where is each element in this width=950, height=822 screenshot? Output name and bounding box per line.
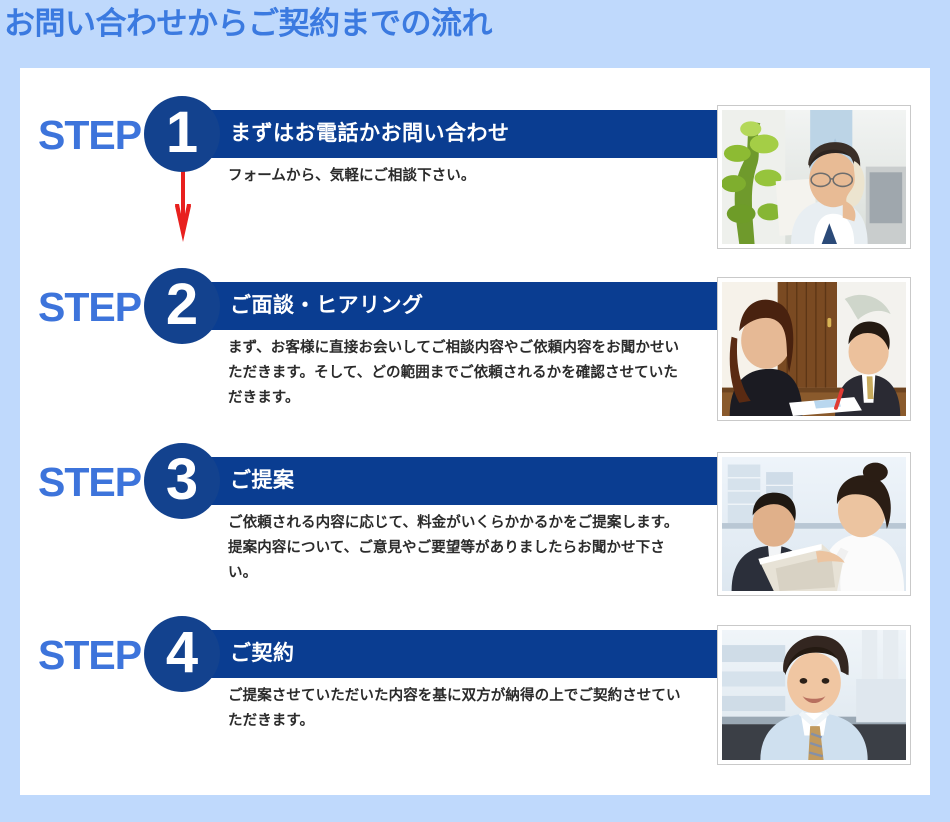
step-body-1: フォームから、気軽にご相談下さい。 <box>228 164 688 189</box>
step-body-3: ご依頼される内容に応じて、料金がいくらかかるかをご提案します。提案内容について、… <box>228 511 688 586</box>
step-label-2: STEP <box>38 284 141 330</box>
step-block-2: STEP 2 ご面談・ヒアリング まず、お客様に直接お会いしてご相談内容やご依頼… <box>20 268 930 428</box>
flow-panel: STEP 1 まずはお電話かお問い合わせ フォームから、気軽にご相談下さい。 <box>20 68 930 795</box>
step-label-1: STEP <box>38 112 141 158</box>
page-title: お問い合わせからご契約までの流れ <box>0 0 950 48</box>
step-title-2: ご面談・ヒアリング <box>230 282 424 330</box>
step-number-badge-2: 2 <box>144 268 220 344</box>
step-label-4: STEP <box>38 632 141 678</box>
photo-contract-businessman <box>718 626 910 764</box>
step-number-badge-3: 3 <box>144 443 220 519</box>
photo-proposal-review <box>718 453 910 595</box>
step-body-4: ご提案させていただいた内容を基に双方が納得の上でご契約させていただきます。 <box>228 684 688 734</box>
step-title-4: ご契約 <box>230 630 295 678</box>
step-block-1: STEP 1 まずはお電話かお問い合わせ フォームから、気軽にご相談下さい。 <box>20 96 930 256</box>
step-block-3: STEP 3 ご提案 ご依頼される内容に応じて、料金がいくらかかるかをご提案しま… <box>20 443 930 603</box>
photo-meeting-interview <box>718 278 910 420</box>
photo-phone-call <box>718 106 910 248</box>
step-number-badge-4: 4 <box>144 616 220 692</box>
step-block-4: STEP 4 ご契約 ご提案させていただいた内容を基に双方が納得の上でご契約させ… <box>20 616 930 776</box>
step-body-2: まず、お客様に直接お会いしてご相談内容やご依頼内容をお聞かせいただきます。そして… <box>228 336 688 411</box>
step-title-1: まずはお電話かお問い合わせ <box>230 110 510 158</box>
step-number-badge-1: 1 <box>144 96 220 172</box>
step-title-3: ご提案 <box>230 457 295 505</box>
step-label-3: STEP <box>38 459 141 505</box>
